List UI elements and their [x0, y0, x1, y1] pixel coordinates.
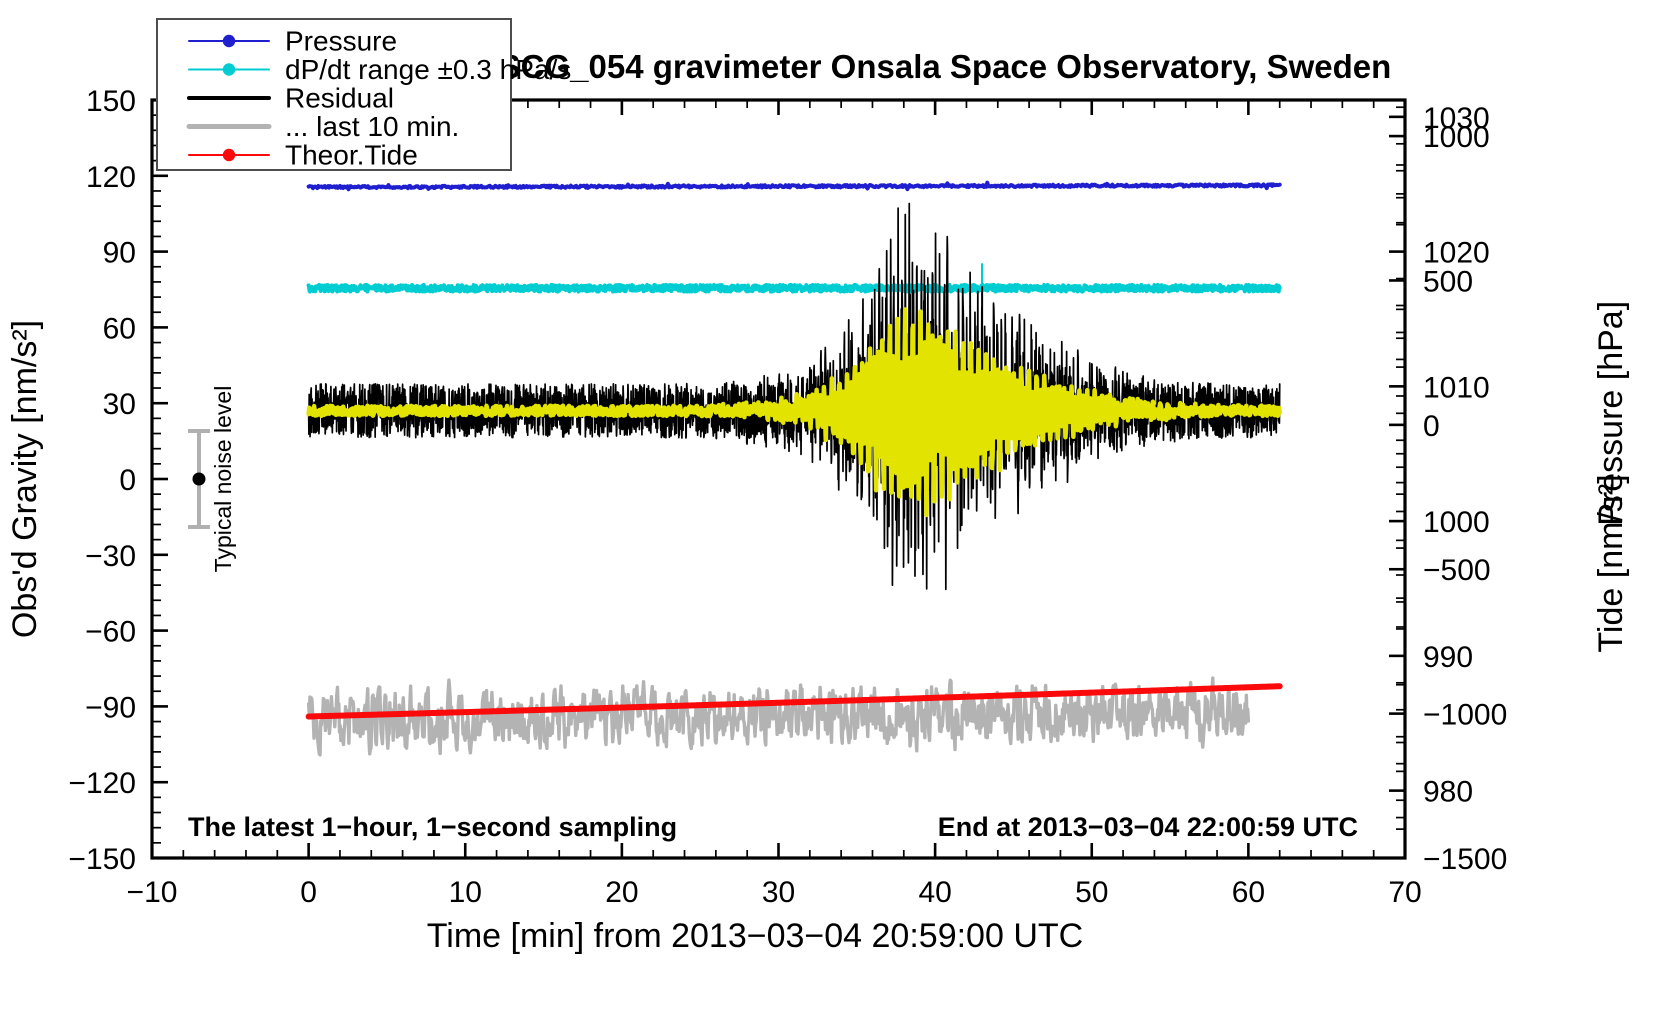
- y-tick-label-left: −120: [68, 767, 136, 800]
- x-tick-label: 60: [1232, 876, 1265, 909]
- y-tick-label-right-tide: 500: [1423, 265, 1473, 298]
- page-title: SCG_054 gravimeter Onsala Space Observat…: [499, 48, 1392, 85]
- y-tick-label-right-tide: 1000: [1423, 121, 1490, 154]
- y-tick-label-right-tide: −500: [1423, 554, 1491, 587]
- plot-canvas: −100102030405060701501209060300−30−60−90…: [0, 0, 1660, 1020]
- y-tick-label-left: 120: [86, 161, 136, 194]
- annotation-bottom-left: The latest 1−hour, 1−second sampling: [188, 812, 677, 842]
- series-dpdt-range: [309, 285, 1280, 292]
- y-tick-label-right-pressure: 980: [1423, 776, 1473, 809]
- y-tick-label-right-tide: 0: [1423, 410, 1440, 443]
- typical-noise-level-marker: [188, 431, 210, 527]
- legend-marker-dot: [223, 63, 235, 75]
- x-tick-label: 20: [605, 876, 638, 909]
- y-tick-label-left: 0: [119, 464, 136, 497]
- typical-noise-level-label: Typical noise level: [210, 386, 236, 573]
- x-axis-title: Time [min] from 2013−03−04 20:59:00 UTC: [427, 917, 1083, 955]
- x-tick-label: 70: [1388, 876, 1421, 909]
- y-tick-label-left: 90: [103, 237, 136, 270]
- axes-layer: −100102030405060701501209060300−30−60−90…: [68, 85, 1507, 909]
- y-tick-label-right-pressure: 1000: [1423, 506, 1490, 539]
- y-axis-left-title: Obs'd Gravity [nm/s²]: [6, 320, 44, 638]
- legend-marker-dot: [223, 35, 235, 47]
- legend-item-label: Pressure: [285, 26, 397, 57]
- series-pressure: [309, 183, 1280, 190]
- x-tick-label: 40: [918, 876, 951, 909]
- legend-item-label: ... last 10 min.: [285, 111, 459, 142]
- y-tick-label-left: −150: [68, 843, 136, 876]
- y-tick-label-right-pressure: 990: [1423, 641, 1473, 674]
- gravimeter-plot-figure: −100102030405060701501209060300−30−60−90…: [0, 0, 1660, 1020]
- series-residual-smoothed: [309, 310, 1280, 515]
- y-tick-label-left: −60: [85, 616, 136, 649]
- y-tick-label-left: −90: [85, 691, 136, 724]
- y-tick-label-left: −30: [85, 540, 136, 573]
- x-tick-label: 0: [300, 876, 317, 909]
- y-tick-label-left: 150: [86, 85, 136, 118]
- x-tick-label: 30: [762, 876, 795, 909]
- legend-item-label: Theor.Tide: [285, 140, 418, 171]
- y-tick-label-right-tide: −1500: [1423, 843, 1507, 876]
- y-axis-right-tide-title: Tide [nm/s²]: [1592, 474, 1630, 652]
- legend-item-label: dP/dt range ±0.3 hPa/s: [285, 54, 571, 85]
- x-tick-label: 50: [1075, 876, 1108, 909]
- legend-item-label: Residual: [285, 83, 394, 114]
- legend-marker-dot: [223, 149, 235, 161]
- series-layer: [309, 183, 1280, 755]
- series-residual: [309, 204, 1280, 590]
- noise-bar-center-dot: [192, 473, 205, 486]
- legend: PressuredP/dt range ±0.3 hPa/sResidual..…: [157, 19, 571, 171]
- y-tick-label-right-pressure: 1010: [1423, 371, 1490, 404]
- y-tick-label-right-tide: −1000: [1423, 699, 1507, 732]
- y-tick-label-left: 60: [103, 312, 136, 345]
- x-tick-label: 10: [449, 876, 482, 909]
- x-tick-label: −10: [127, 876, 178, 909]
- y-tick-label-left: 30: [103, 388, 136, 421]
- annotation-bottom-right: End at 2013−03−04 22:00:59 UTC: [938, 812, 1358, 842]
